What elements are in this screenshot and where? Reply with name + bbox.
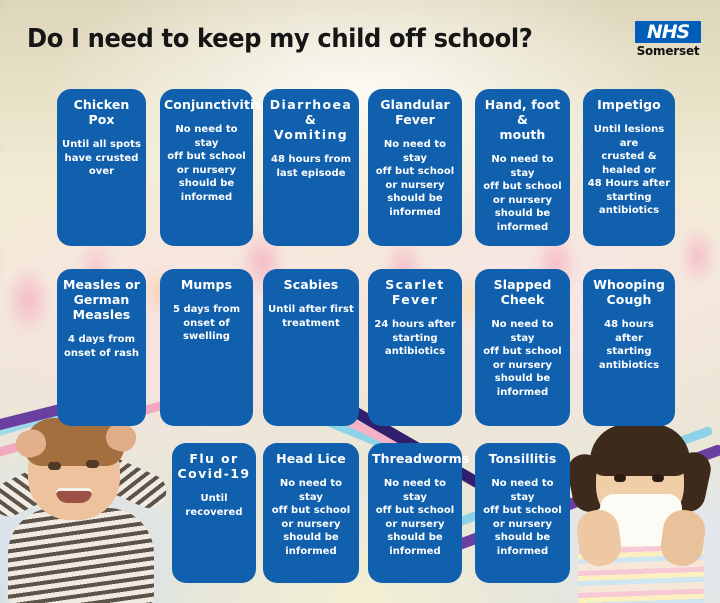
illness-card-note: Until after first treatment [267, 303, 355, 330]
illness-card-glandular-fever[interactable]: Glandular FeverNo need to stay off but s… [368, 89, 462, 246]
illness-card-note: No need to stay off but school or nurser… [479, 477, 566, 558]
illness-card-note: 5 days from onset of swelling [164, 303, 249, 344]
nhs-logo-subtitle: Somerset [630, 45, 706, 58]
boy-torso [8, 508, 154, 603]
illness-card-measles-or-german-measles[interactable]: Measles or German Measles4 days from ons… [57, 269, 146, 426]
illness-card-title: Mumps [164, 277, 249, 292]
boy-right-eye [86, 460, 99, 468]
illness-card-title: Hand, foot & mouth [479, 97, 566, 142]
illness-card-head-lice[interactable]: Head LiceNo need to stay off but school … [263, 443, 359, 583]
illness-card-impetigo[interactable]: ImpetigoUntil lesions are crusted & heal… [583, 89, 675, 246]
page-title: Do I need to keep my child off school? [27, 24, 532, 54]
illness-card-note: 48 hours from last episode [267, 153, 355, 180]
illness-card-title: Slapped Cheek [479, 277, 566, 307]
illness-card-note: 4 days from onset of rash [61, 333, 142, 360]
illness-card-title: Conjunctivitis [164, 97, 249, 112]
illness-card-scabies[interactable]: ScabiesUntil after first treatment [263, 269, 359, 426]
illness-card-note: No need to stay off but school or nurser… [479, 318, 566, 399]
illness-card-title: Scarlet Fever [372, 277, 458, 307]
boy-scratching-head-photo [0, 396, 172, 603]
boy-left-eye [48, 462, 61, 470]
illness-card-flu-or-covid-19[interactable]: Flu or Covid-19Until recovered [172, 443, 256, 583]
illness-card-note: No need to stay off but school or nurser… [164, 123, 249, 204]
girl-hair [590, 424, 690, 476]
nhs-somerset-logo: NHS Somerset [630, 21, 706, 58]
illness-card-title: Flu or Covid-19 [176, 451, 252, 481]
poster-root: Do I need to keep my child off school? N… [0, 0, 720, 603]
illness-card-note: No need to stay off but school or nurser… [267, 477, 355, 558]
girl-blowing-nose-photo [562, 402, 720, 603]
illness-card-note: No need to stay off but school or nurser… [372, 138, 458, 219]
illness-card-title: Diarrhoea & Vomiting [267, 97, 355, 142]
girl-right-eye [652, 474, 664, 482]
illness-card-chicken-pox[interactable]: Chicken PoxUntil all spots have crusted … [57, 89, 146, 246]
illness-card-note: Until recovered [176, 492, 252, 519]
illness-card-title: Impetigo [587, 97, 671, 112]
boy-mouth [56, 488, 92, 503]
illness-card-title: Glandular Fever [372, 97, 458, 127]
illness-card-hand-foot-mouth[interactable]: Hand, foot & mouthNo need to stay off bu… [475, 89, 570, 246]
illness-card-whooping-cough[interactable]: Whooping Cough48 hours after starting an… [583, 269, 675, 426]
illness-card-note: Until lesions are crusted & healed or 48… [587, 123, 671, 218]
girl-left-eye [614, 474, 626, 482]
illness-card-title: Scabies [267, 277, 355, 292]
illness-card-title: Threadworms [372, 451, 458, 466]
illness-card-threadworms[interactable]: ThreadwormsNo need to stay off but schoo… [368, 443, 462, 583]
illness-card-scarlet-fever[interactable]: Scarlet Fever24 hours after starting ant… [368, 269, 462, 426]
illness-card-title: Whooping Cough [587, 277, 671, 307]
nhs-logo-mark: NHS [635, 21, 701, 43]
illness-card-title: Head Lice [267, 451, 355, 466]
illness-card-title: Measles or German Measles [61, 277, 142, 322]
illness-card-note: 48 hours after starting antibiotics [587, 318, 671, 372]
illness-card-slapped-cheek[interactable]: Slapped CheekNo need to stay off but sch… [475, 269, 570, 426]
illness-card-note: No need to stay off but school or nurser… [479, 153, 566, 234]
illness-card-note: No need to stay off but school or nurser… [372, 477, 458, 558]
illness-card-diarrhoea-vomiting[interactable]: Diarrhoea & Vomiting48 hours from last e… [263, 89, 359, 246]
illness-card-note: 24 hours after starting antibiotics [372, 318, 458, 359]
illness-card-title: Chicken Pox [61, 97, 142, 127]
illness-card-title: Tonsillitis [479, 451, 566, 466]
illness-card-tonsillitis[interactable]: TonsillitisNo need to stay off but schoo… [475, 443, 570, 583]
illness-card-note: Until all spots have crusted over [61, 138, 142, 179]
illness-card-conjunctivitis[interactable]: ConjunctivitisNo need to stay off but sc… [160, 89, 253, 246]
illness-card-mumps[interactable]: Mumps5 days from onset of swelling [160, 269, 253, 426]
